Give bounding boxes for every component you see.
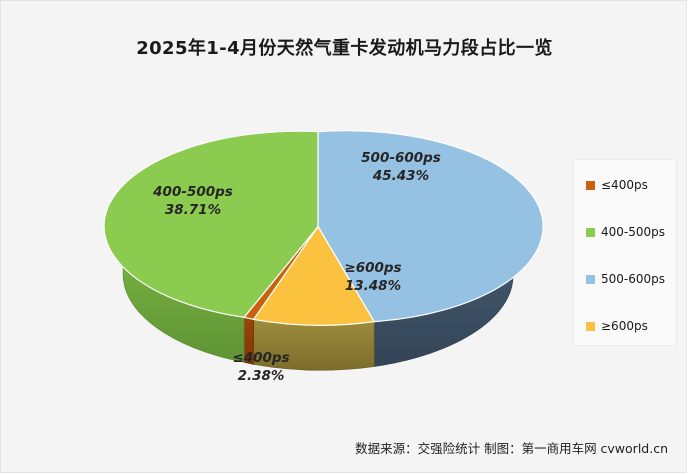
pie-chart-area: 500-600ps 45.43% 400-500ps 38.71% ≥600ps… (1, 1, 561, 421)
legend-item-500-600ps[interactable]: 500-600ps (586, 272, 665, 286)
pie-label-500-600ps-value: 45.43% (331, 167, 471, 185)
legend-label-600plus: ≥600ps (601, 319, 648, 333)
legend-label-500-600ps: 500-600ps (601, 272, 665, 286)
legend-swatch-500-600ps (586, 275, 595, 284)
pie-label-600plus: ≥600ps 13.48% (313, 259, 433, 295)
chart-legend: ≤400ps 400-500ps 500-600ps ≥600ps (573, 159, 677, 346)
legend-swatch-400-500ps (586, 228, 595, 237)
data-source-note: 数据来源：交强险统计 制图：第一商用车网 cvworld.cn (355, 438, 668, 457)
pie-label-400-500ps: 400-500ps 38.71% (123, 183, 263, 219)
pie-label-400less-name: ≤400ps (232, 350, 289, 366)
pie-label-500-600ps: 500-600ps 45.43% (331, 149, 471, 185)
legend-swatch-600plus (586, 322, 595, 331)
pie-label-400-500ps-name: 400-500ps (153, 184, 233, 200)
legend-swatch-400less (586, 181, 595, 190)
legend-label-400less: ≤400ps (601, 178, 648, 192)
legend-item-400less[interactable]: ≤400ps (586, 178, 648, 192)
pie-label-400less-value: 2.38% (201, 367, 321, 385)
legend-item-600plus[interactable]: ≥600ps (586, 319, 648, 333)
legend-item-400-500ps[interactable]: 400-500ps (586, 225, 665, 239)
pie-label-600plus-value: 13.48% (313, 277, 433, 295)
legend-label-400-500ps: 400-500ps (601, 225, 665, 239)
chart-container: 2025年1-4月份天然气重卡发动机马力段占比一览 (0, 0, 687, 473)
pie-label-400less: ≤400ps 2.38% (201, 349, 321, 385)
pie-label-400-500ps-value: 38.71% (123, 201, 263, 219)
pie-label-600plus-name: ≥600ps (344, 260, 401, 276)
pie-label-500-600ps-name: 500-600ps (361, 150, 441, 166)
pie-top-faces (104, 131, 543, 326)
